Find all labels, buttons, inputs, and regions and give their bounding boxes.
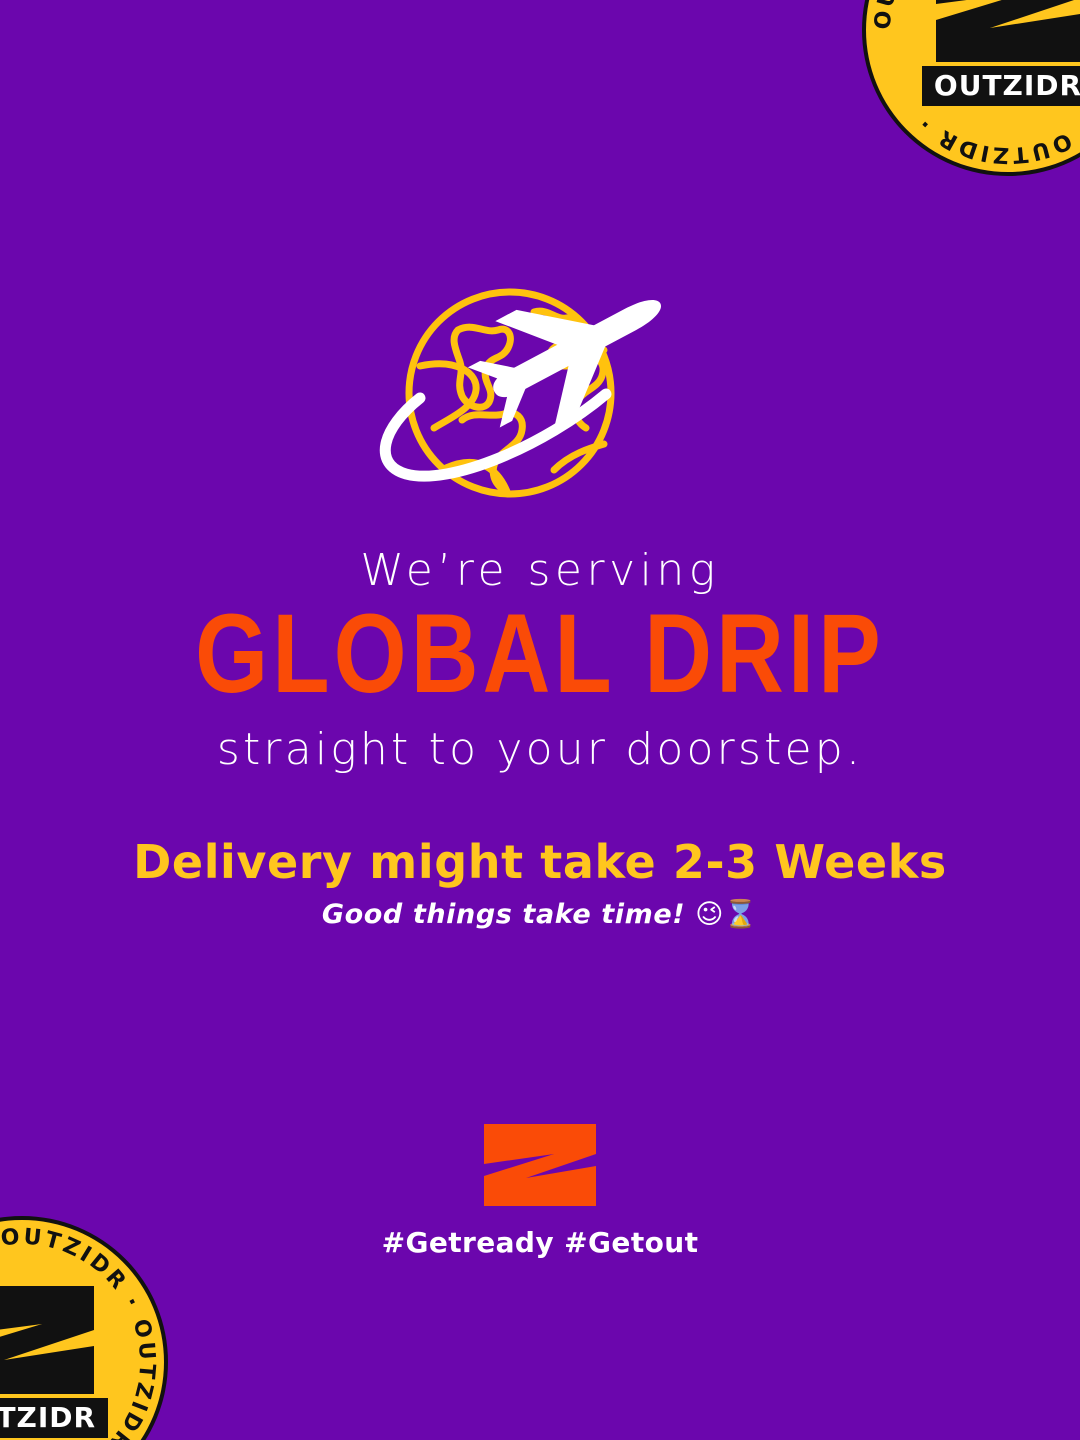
tagline-text: Good things take time! <box>322 899 685 930</box>
delivery-notice: Delivery might take 2-3 Weeks <box>0 837 1080 888</box>
promo-poster: OUTZIDR · OUTZIDR · OUTZIDR · OUTZIDR · … <box>0 0 1080 1440</box>
footer-brand-block: #Getready #Getout <box>0 1122 1080 1259</box>
delivery-tagline: Good things take time! 😉⌛ <box>0 899 1080 931</box>
headline-block: We’re serving GLOBAL DRIP straight to yo… <box>0 548 1080 932</box>
eyebrow-text: We’re serving <box>0 548 1080 594</box>
badge-center-wordmark-bl: OUTZIDR <box>0 1401 96 1434</box>
globe-airplane-illustration <box>358 278 708 510</box>
badge-center-wordmark-tr: OUTZIDR <box>934 69 1080 102</box>
hashtags-text: #Getready #Getout <box>0 1226 1080 1259</box>
airplane-icon <box>455 278 690 452</box>
page-title: GLOBAL DRIP <box>0 598 1080 710</box>
subheadline-text: straight to your doorstep. <box>0 726 1080 774</box>
tagline-emoji: 😉⌛ <box>695 899 758 930</box>
brand-logo-z <box>478 1122 602 1208</box>
brand-badge-top-right: OUTZIDR · OUTZIDR · OUTZIDR · OUTZIDR · … <box>858 0 1080 180</box>
